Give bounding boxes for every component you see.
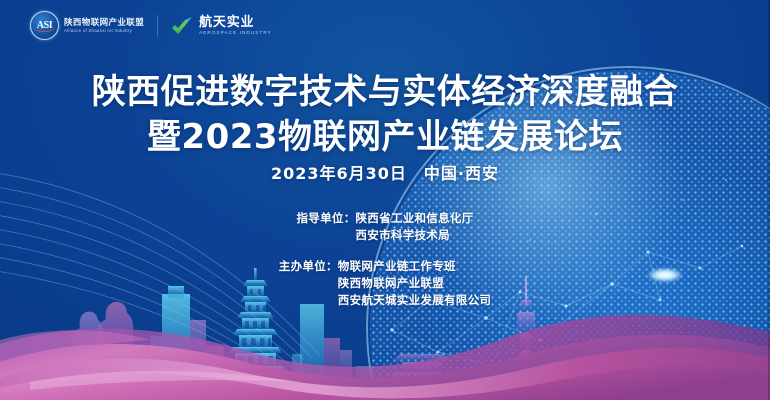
host-units-list: 物联网产业链工作专班 陕西物联网产业联盟 西安航天城实业发展有限公司 [338, 258, 491, 309]
guiding-units-label: 指导单位： [297, 210, 356, 227]
conference-banner: ASI 陕西物联网产业联盟 Alliance of Shaanxi Iot In… [0, 0, 770, 400]
date-location: 2023年6月30日 中国·西安 [0, 160, 770, 184]
guiding-units-block: 指导单位： 陕西省工业和信息化厅 西安市科学技术局 [0, 210, 770, 244]
guiding-unit-item: 西安市科学技术局 [356, 227, 474, 244]
banner-content: 陕西促进数字技术与实体经济深度融合 暨2023物联网产业链发展论坛 2023年6… [0, 0, 770, 400]
host-units-block: 主办单位： 物联网产业链工作专班 陕西物联网产业联盟 西安航天城实业发展有限公司 [0, 258, 770, 309]
guiding-units-list: 陕西省工业和信息化厅 西安市科学技术局 [356, 210, 474, 244]
host-unit-item: 西安航天城实业发展有限公司 [338, 292, 491, 309]
host-unit-item: 物联网产业链工作专班 [338, 258, 491, 275]
title-line-2: 暨2023物联网产业链发展论坛 [0, 115, 770, 160]
host-unit-item: 陕西物联网产业联盟 [338, 275, 491, 292]
guiding-unit-item: 陕西省工业和信息化厅 [356, 210, 474, 227]
organizers-section: 指导单位： 陕西省工业和信息化厅 西安市科学技术局 主办单位： 物联网产业链工作… [0, 210, 770, 323]
page-title: 陕西促进数字技术与实体经济深度融合 暨2023物联网产业链发展论坛 [0, 70, 770, 160]
title-line-1: 陕西促进数字技术与实体经济深度融合 [92, 72, 679, 112]
host-units-label: 主办单位： [279, 258, 338, 275]
